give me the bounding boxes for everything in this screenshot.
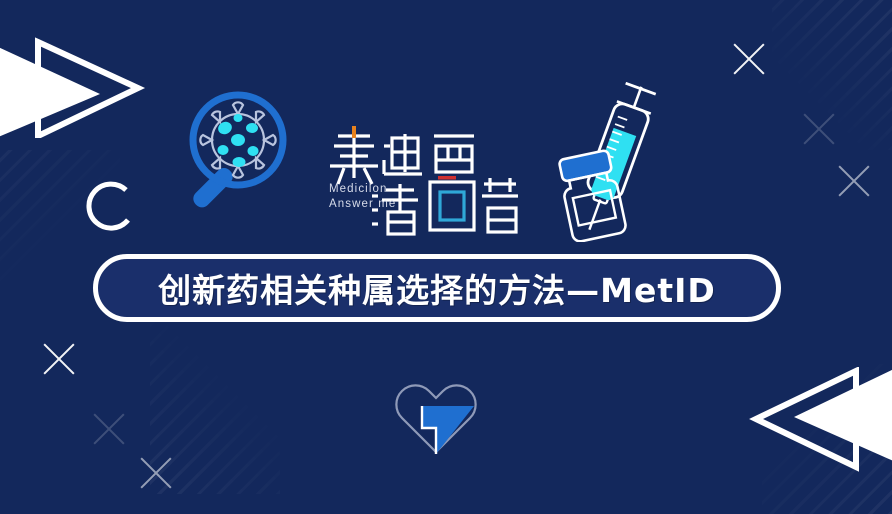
logo-red-accent	[438, 176, 456, 180]
cross-decoration	[135, 452, 177, 494]
poster-canvas: Medicilon Answer me 创新药相关种属选择的方法—MetID	[0, 0, 892, 514]
brand-logo-glyphs	[326, 120, 526, 240]
logo-orange-accent	[352, 126, 356, 138]
syringe-vial-icon	[552, 82, 676, 242]
double-triangle-right-icon	[0, 18, 146, 138]
diagonal-stripes-top-right	[772, 0, 892, 150]
page-title: 创新药相关种属选择的方法—MetID	[158, 264, 716, 312]
brand-logo: Medicilon Answer me	[326, 120, 526, 240]
brand-logo-en-line2: Answer me	[329, 197, 396, 212]
brand-logo-english: Medicilon Answer me	[329, 182, 396, 212]
logo-inner-square	[440, 192, 464, 220]
diagonal-stripes-bottom-left	[150, 304, 280, 494]
cross-decoration	[38, 338, 80, 380]
arc-decoration	[76, 178, 138, 240]
double-triangle-left-icon	[743, 367, 892, 492]
virus-magnifier-icon	[182, 86, 314, 218]
heart-pulse-icon	[384, 372, 488, 458]
title-pill: 创新药相关种属选择的方法—MetID	[93, 254, 781, 322]
cross-decoration	[88, 408, 130, 450]
brand-logo-en-line1: Medicilon	[329, 182, 396, 197]
cross-decoration	[728, 38, 770, 80]
diagonal-stripes-bottom-right	[762, 364, 892, 514]
cross-decoration	[833, 160, 875, 202]
cross-decoration	[798, 108, 840, 150]
